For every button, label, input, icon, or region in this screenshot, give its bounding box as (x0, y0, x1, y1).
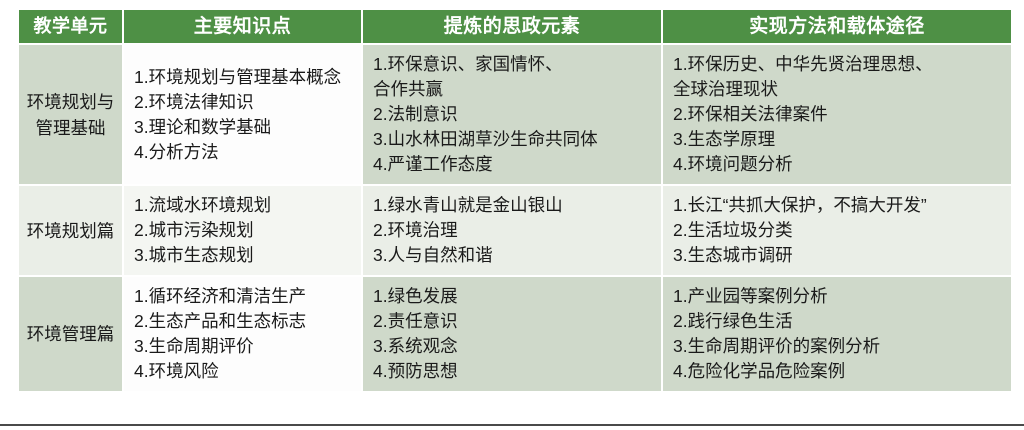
header-row: 教学单元 主要知识点 提炼的思政元素 实现方法和载体途径 (19, 10, 1011, 43)
unit-label-2: 环境规划篇 (25, 218, 116, 244)
ideological-elements-list-3: 1.绿色发展 2.责任意识 3.系统观念 4.预防思想 (373, 284, 655, 384)
cell-unit-3: 环境管理篇 (19, 277, 122, 391)
cell-ideological-elements-2: 1.绿水青山就是金山银山 2.环境治理 3.人与自然和谐 (363, 186, 661, 275)
cell-unit-1: 环境规划与管理基础 (19, 45, 122, 184)
header-cell-knowledge-points: 主要知识点 (124, 10, 361, 43)
ideological-elements-list-1: 1.环保意识、家国情怀、 合作共赢 2.法制意识 3.山水林田湖草沙生命共同体 … (373, 52, 655, 177)
table-row: 环境管理篇 1.循环经济和清洁生产 2.生态产品和生态标志 3.生命周期评价 4… (19, 277, 1011, 391)
cell-knowledge-points-2: 1.流域水环境规划 2.城市污染规划 3.城市生态规划 (124, 186, 361, 275)
methods-list-3: 1.产业园等案例分析 2.践行绿色生活 3.生命周期评价的案例分析 4.危险化学… (673, 284, 1005, 384)
knowledge-points-list-2: 1.流域水环境规划 2.城市污染规划 3.城市生态规划 (134, 193, 355, 268)
cell-knowledge-points-1: 1.环境规划与管理基本概念 2.环境法律知识 3.理论和数学基础 4.分析方法 (124, 45, 361, 184)
header-cell-teaching-unit: 教学单元 (19, 10, 122, 43)
cell-methods-1: 1.环保历史、中华先贤治理思想、 全球治理现状 2.环保相关法律案件 3.生态学… (663, 45, 1011, 184)
methods-list-1: 1.环保历史、中华先贤治理思想、 全球治理现状 2.环保相关法律案件 3.生态学… (673, 52, 1005, 177)
ideological-elements-list-2: 1.绿水青山就是金山银山 2.环境治理 3.人与自然和谐 (373, 193, 655, 268)
unit-label-1: 环境规划与管理基础 (25, 89, 116, 141)
teaching-unit-ideology-table: 教学单元 主要知识点 提炼的思政元素 实现方法和载体途径 环境规划与管理基础 1… (17, 8, 1013, 393)
table-row: 环境规划与管理基础 1.环境规划与管理基本概念 2.环境法律知识 3.理论和数学… (19, 45, 1011, 184)
slide-canvas: 教学单元 主要知识点 提炼的思政元素 实现方法和载体途径 环境规划与管理基础 1… (0, 0, 1024, 430)
unit-label-3: 环境管理篇 (25, 321, 116, 347)
table-header: 教学单元 主要知识点 提炼的思政元素 实现方法和载体途径 (19, 10, 1011, 43)
header-cell-methods: 实现方法和载体途径 (663, 10, 1011, 43)
cell-ideological-elements-3: 1.绿色发展 2.责任意识 3.系统观念 4.预防思想 (363, 277, 661, 391)
cell-methods-2: 1.长江“共抓大保护，不搞大开发” 2.生活垃圾分类 3.生态城市调研 (663, 186, 1011, 275)
ideology-table-container: 教学单元 主要知识点 提炼的思政元素 实现方法和载体途径 环境规划与管理基础 1… (17, 8, 1007, 393)
knowledge-points-list-1: 1.环境规划与管理基本概念 2.环境法律知识 3.理论和数学基础 4.分析方法 (134, 65, 355, 165)
header-cell-ideological-elements: 提炼的思政元素 (363, 10, 661, 43)
cell-unit-2: 环境规划篇 (19, 186, 122, 275)
cell-knowledge-points-3: 1.循环经济和清洁生产 2.生态产品和生态标志 3.生命周期评价 4.环境风险 (124, 277, 361, 391)
cell-methods-3: 1.产业园等案例分析 2.践行绿色生活 3.生命周期评价的案例分析 4.危险化学… (663, 277, 1011, 391)
table-row: 环境规划篇 1.流域水环境规划 2.城市污染规划 3.城市生态规划 1.绿水青山… (19, 186, 1011, 275)
bottom-divider-rule (0, 424, 1024, 426)
cell-ideological-elements-1: 1.环保意识、家国情怀、 合作共赢 2.法制意识 3.山水林田湖草沙生命共同体 … (363, 45, 661, 184)
table-body: 环境规划与管理基础 1.环境规划与管理基本概念 2.环境法律知识 3.理论和数学… (19, 45, 1011, 391)
knowledge-points-list-3: 1.循环经济和清洁生产 2.生态产品和生态标志 3.生命周期评价 4.环境风险 (134, 284, 355, 384)
methods-list-2: 1.长江“共抓大保护，不搞大开发” 2.生活垃圾分类 3.生态城市调研 (673, 193, 1005, 268)
